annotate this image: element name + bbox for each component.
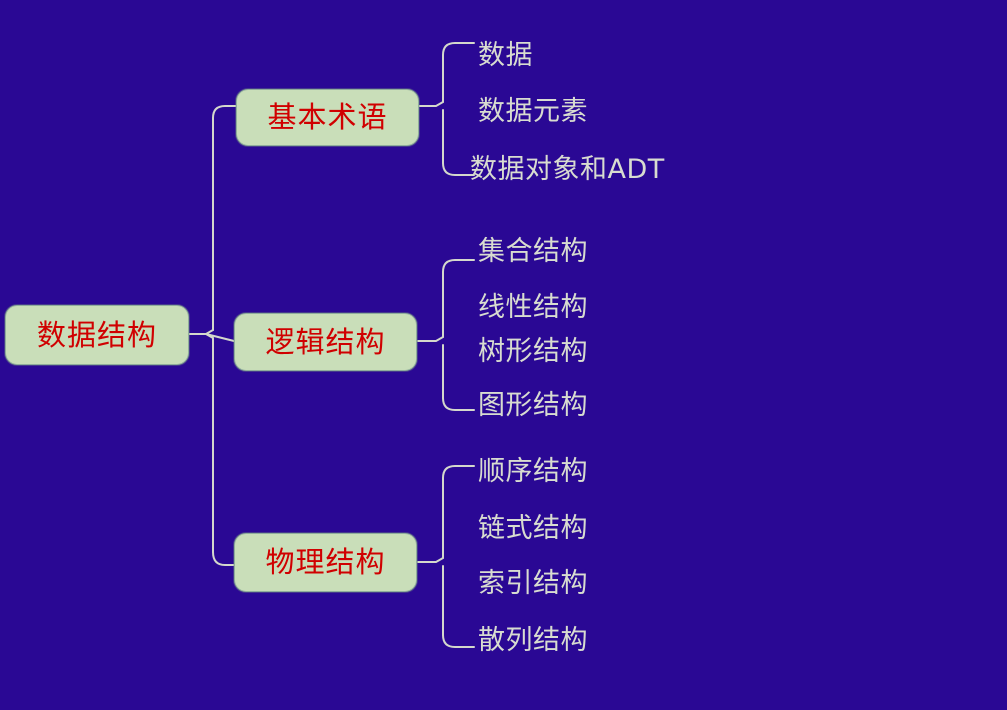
leaf-label: 图形结构 (478, 392, 588, 419)
branch2-bracket-stem (418, 337, 443, 341)
branch3-bracket-stem (418, 558, 443, 562)
leaf-label: 数据对象和ADT (470, 156, 665, 183)
root-bracket-top-arm (213, 106, 236, 118)
root-node-label: 数据结构 (37, 321, 157, 350)
branch3-bracket-bottom-arm (443, 635, 474, 647)
branch-node-logical-structure[interactable]: 逻辑结构 (234, 313, 417, 371)
branch2-bracket-bottom-arm (443, 398, 474, 410)
leaf-label: 链式结构 (478, 515, 588, 542)
branch1-bracket-stem (419, 102, 443, 106)
leaf-label: 数据元素 (478, 98, 588, 125)
leaf-label: 索引结构 (478, 570, 588, 597)
branch1-bracket-top-arm (443, 43, 474, 55)
leaf-label: 散列结构 (478, 627, 588, 654)
root-bracket-mid-arm (206, 334, 234, 341)
root-node[interactable]: 数据结构 (5, 305, 189, 365)
leaf-label: 线性结构 (478, 294, 588, 321)
root-bracket-stem (189, 330, 213, 334)
root-bracket-bottom-arm (213, 552, 234, 565)
branch-node-physical-structure[interactable]: 物理结构 (234, 533, 417, 592)
leaf-label: 数据 (478, 42, 533, 69)
branch3-bracket-top-arm (443, 466, 474, 478)
leaf-label: 顺序结构 (478, 458, 588, 485)
branch2-bracket-top-arm (443, 260, 474, 272)
branch-node-label: 物理结构 (265, 548, 385, 577)
leaf-label: 树形结构 (478, 338, 588, 365)
mindmap-canvas: 数据结构 基本术语 逻辑结构 物理结构 数据 数据元素 数据对象和ADT 集合结… (0, 0, 1007, 710)
branch-node-basic-terms[interactable]: 基本术语 (236, 89, 419, 146)
leaf-label: 集合结构 (478, 238, 588, 265)
branch-node-label: 逻辑结构 (265, 328, 385, 357)
branch-node-label: 基本术语 (267, 103, 387, 132)
